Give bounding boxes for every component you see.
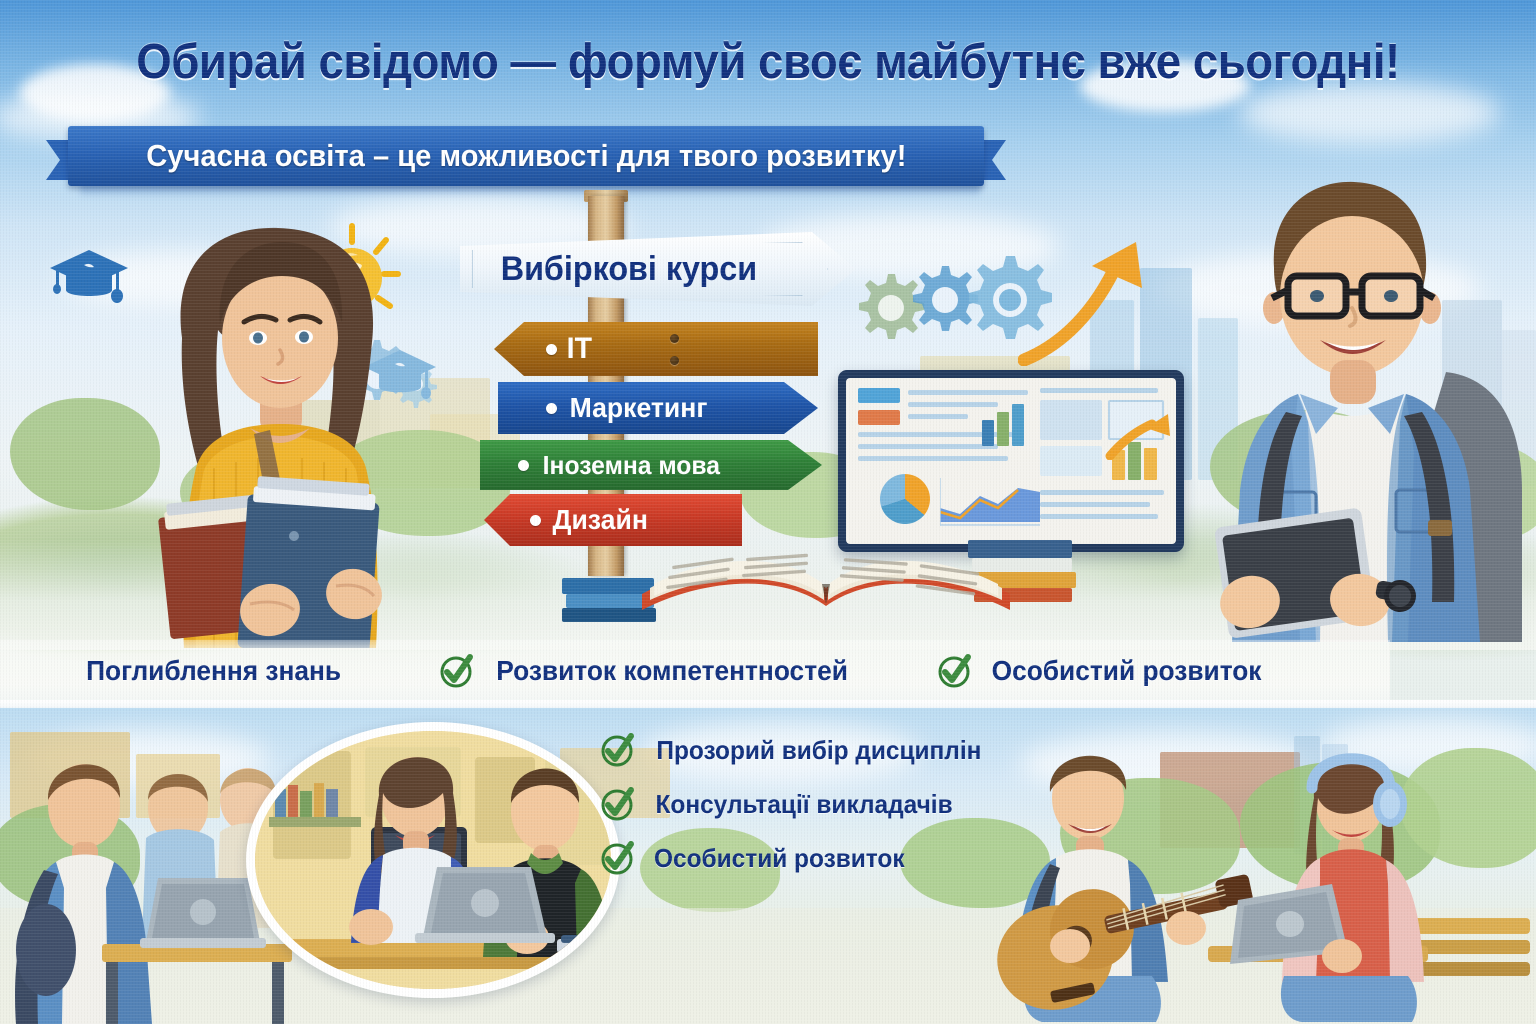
- sign-label-marketing: Маркетинг: [570, 392, 708, 424]
- subtitle-ribbon: Сучасна освіта – це можливості для твого…: [46, 126, 1006, 188]
- poster-canvas: Обирай свідомо — формуй своє майбутнє вж…: [0, 0, 1536, 1024]
- bottom-section: Прозорий вибір дисциплін Консультації ви…: [0, 708, 1536, 1024]
- check-circle-icon: [598, 838, 638, 878]
- student-playing-guitar-and-student-with-laptop-on-bench: [950, 732, 1530, 1024]
- screw: [670, 356, 679, 365]
- dash-text-line: [858, 444, 998, 449]
- cloud: [1240, 82, 1500, 144]
- bullet-dot: [518, 460, 529, 471]
- dash-widget: [858, 388, 900, 403]
- sign-direction-foreign-language[interactable]: Іноземна мова: [480, 440, 822, 490]
- dash-growth-arrow: [1104, 414, 1174, 460]
- list-item-label: Особистий розвиток: [654, 843, 905, 874]
- growth-arrow-icon: [1018, 236, 1158, 366]
- dash-bar: [1012, 404, 1024, 446]
- dash-text-line: [908, 402, 998, 407]
- check-circle-icon: [598, 730, 638, 770]
- teacher-consulting-student: [246, 722, 620, 998]
- dash-text-line: [908, 414, 968, 419]
- dash-text-line: [858, 432, 1020, 437]
- dash-text-line: [1040, 490, 1164, 495]
- sign-direction-it[interactable]: IT: [494, 322, 818, 376]
- dash-text-line: [1040, 514, 1158, 519]
- ribbon-body: Сучасна освіта – це можливості для твого…: [68, 126, 984, 186]
- benefit-item: Особистий розвиток: [935, 651, 1270, 691]
- benefit-label: Поглиблення знань: [86, 655, 341, 687]
- benefit-item: Поглиблення знань: [78, 655, 349, 687]
- sign-label-it: IT: [567, 332, 592, 366]
- sign-head-label: Вибіркові курси: [501, 250, 757, 289]
- subtitle-text: Сучасна освіта – це можливості для твого…: [146, 138, 906, 174]
- sign-label-foreign-language: Іноземна мова: [543, 450, 720, 481]
- list-item-label: Прозорий вибір дисциплін: [656, 735, 981, 766]
- list-item-label: Консультації викладачів: [655, 789, 952, 820]
- page-title: Обирай свідомо — формуй своє майбутнє вж…: [54, 34, 1482, 90]
- bullet-dot: [546, 344, 557, 355]
- male-student-with-tablet: [1196, 172, 1536, 642]
- screw: [670, 334, 679, 343]
- dash-bar: [982, 420, 994, 446]
- sign-direction-marketing[interactable]: Маркетинг: [498, 382, 818, 434]
- dash-text-line: [1040, 502, 1150, 507]
- female-student-with-books: [118, 218, 448, 648]
- bullet-dot: [546, 403, 557, 414]
- dash-widget: [858, 410, 900, 425]
- sign-label-design: Дизайн: [553, 504, 648, 536]
- dash-text-line: [908, 390, 1028, 395]
- check-circle-icon: [437, 651, 477, 691]
- check-circle-icon: [935, 651, 975, 691]
- benefits-band: Поглиблення знань Розвиток компетентност…: [0, 640, 1390, 702]
- check-circle-icon: [598, 784, 638, 824]
- benefit-item: Розвиток компетентностей: [437, 651, 859, 691]
- benefit-label: Розвиток компетентностей: [496, 655, 848, 687]
- dash-panel: [1040, 446, 1102, 476]
- dash-panel: [1040, 400, 1102, 440]
- dash-text-line: [1040, 388, 1158, 393]
- dash-text-line: [858, 456, 1008, 461]
- bullet-dot: [530, 515, 541, 526]
- open-book-icon: [636, 500, 1016, 622]
- dash-bar: [997, 412, 1009, 446]
- benefit-label: Особистий розвиток: [992, 655, 1262, 687]
- sign-vyb-kursy[interactable]: Вибіркові курси: [460, 232, 856, 306]
